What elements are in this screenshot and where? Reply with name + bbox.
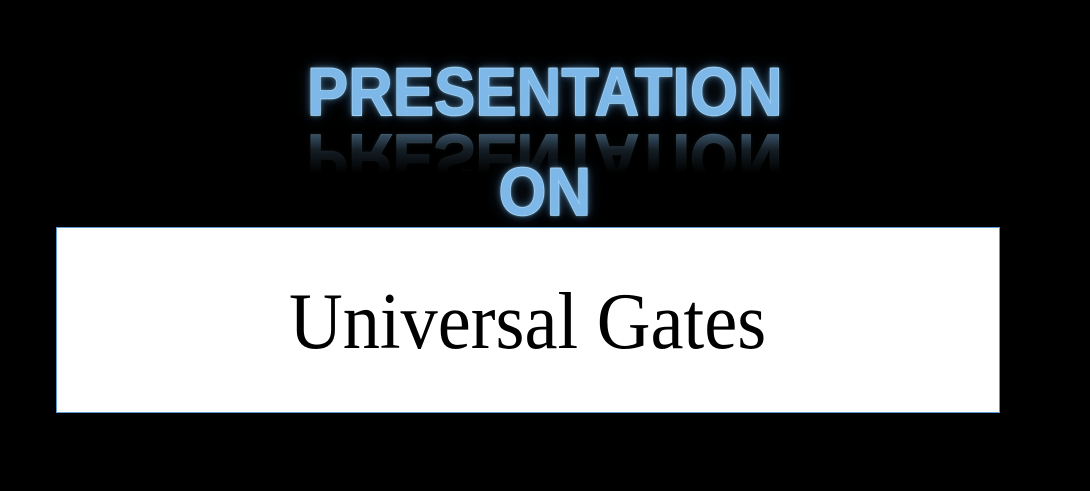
- wordart-heading: PRESENTATION ON: [0, 58, 1090, 226]
- heading-reflection-presentation: PRESENTATION: [0, 124, 1090, 192]
- heading-line-presentation: PRESENTATION: [55, 58, 1036, 126]
- heading-reflection-presentation-text: PRESENTATION: [55, 124, 1036, 192]
- heading-line-on: ON: [55, 158, 1036, 226]
- page-title: Universal Gates: [289, 279, 766, 365]
- presentation-title-slide: PRESENTATION ON PRESENTATION ON Universa…: [0, 0, 1090, 491]
- content-panel: Universal Gates: [56, 227, 1000, 413]
